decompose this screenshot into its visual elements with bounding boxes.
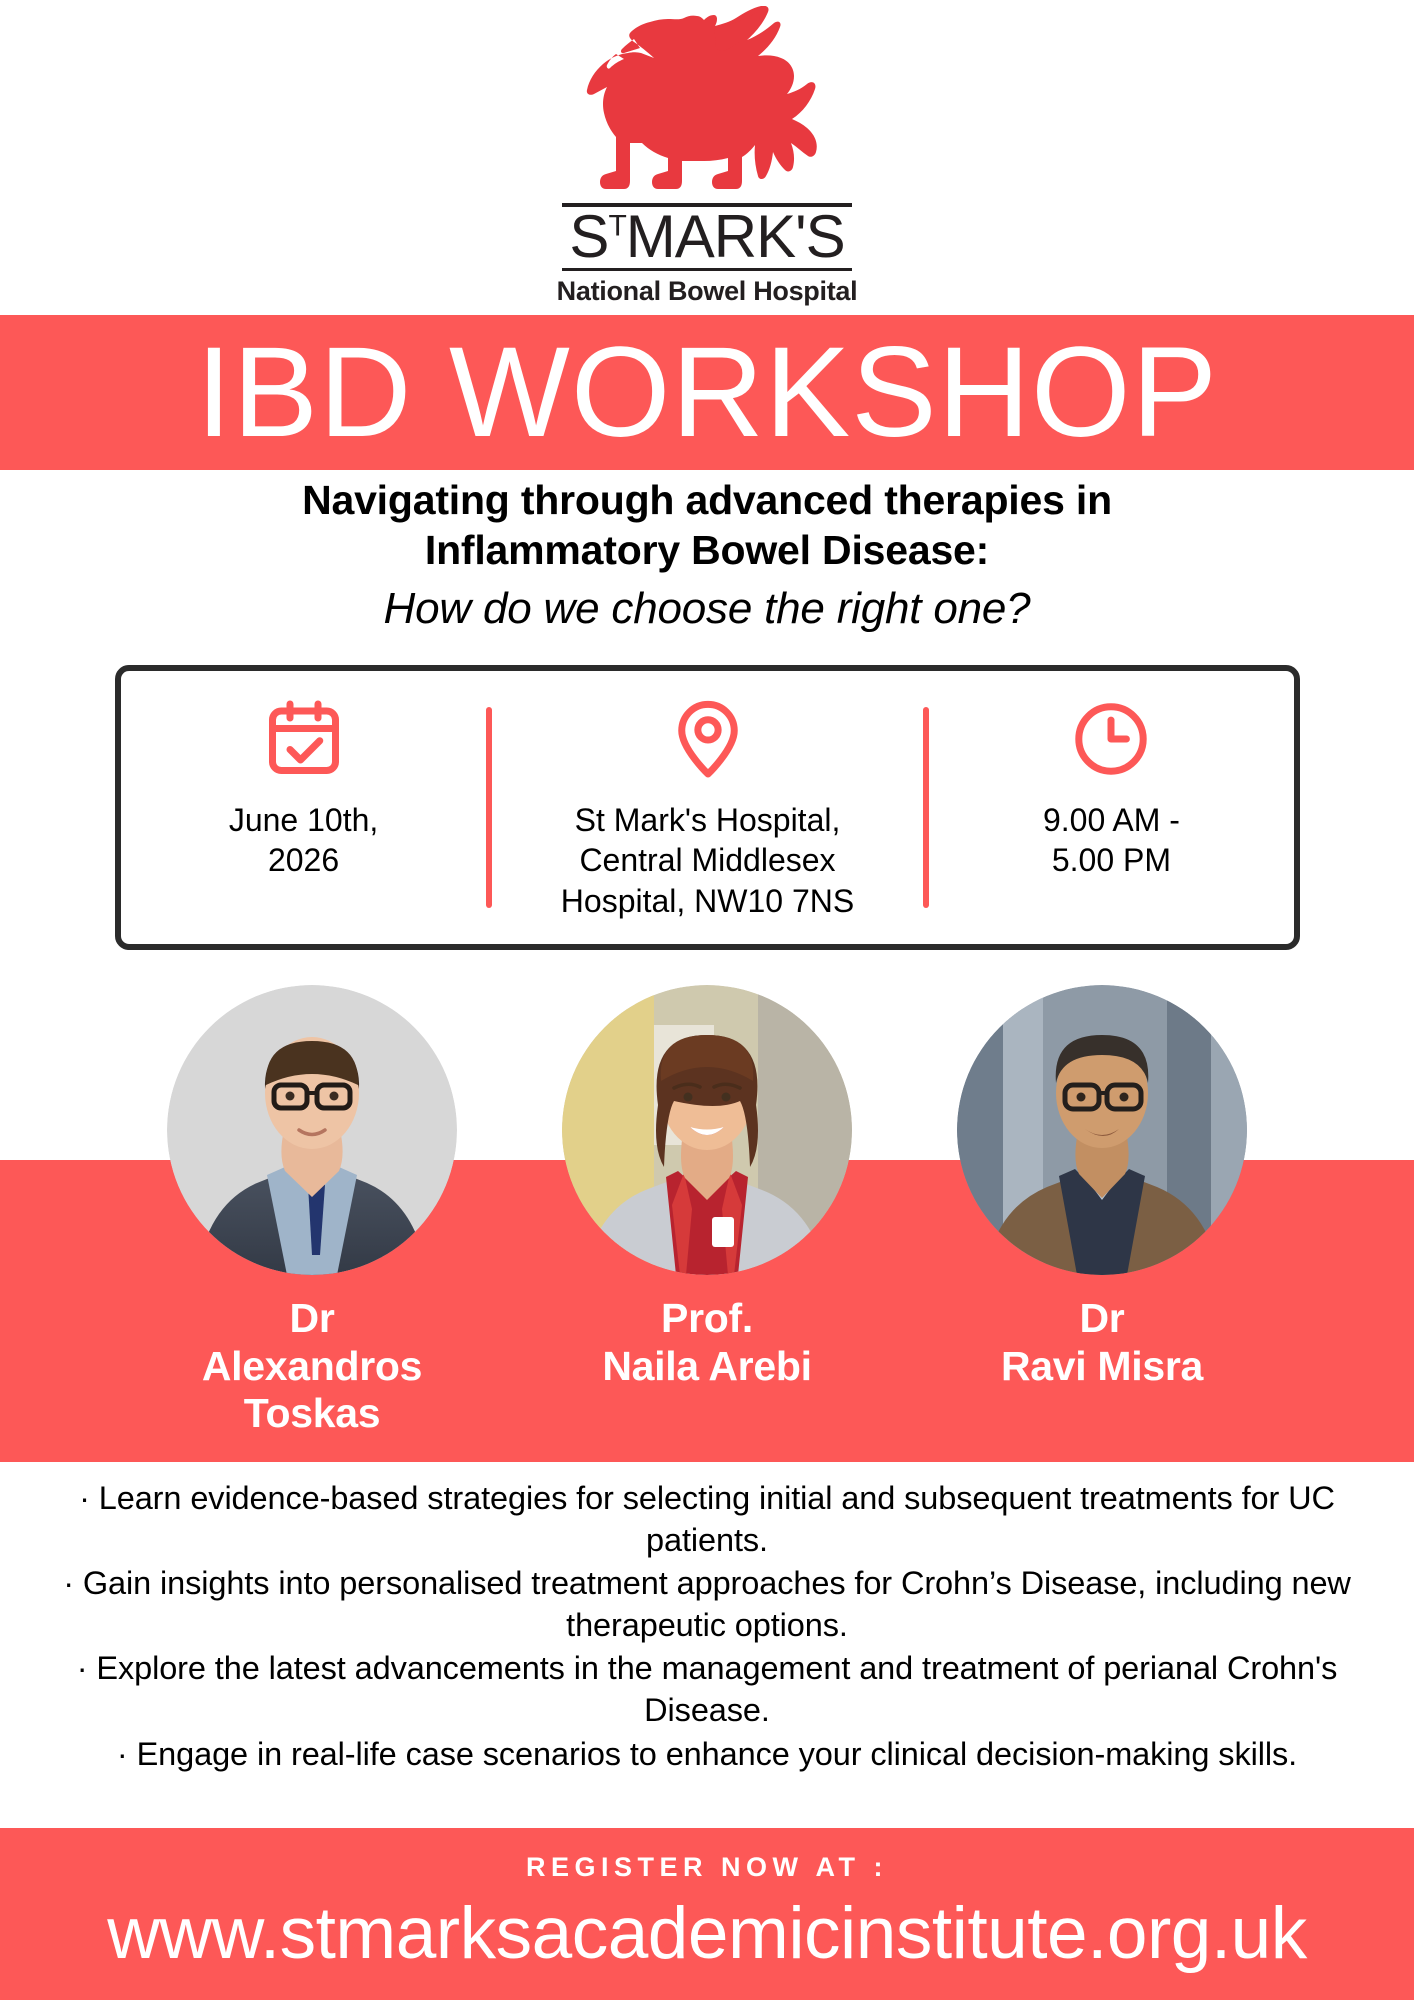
speakers-row: Dr Alexandros Toskas xyxy=(0,985,1414,1438)
logo-wordmark-t: T xyxy=(608,209,625,242)
speaker-card: Dr Ravi Misra xyxy=(927,985,1277,1438)
list-item: · Learn evidence-based strategies for se… xyxy=(22,1478,1392,1561)
event-venue-column: St Mark's Hospital, Central Middlesex Ho… xyxy=(492,671,923,944)
subtitle-question: How do we choose the right one? xyxy=(0,584,1414,634)
register-footer: REGISTER NOW AT : www.stmarksacademicins… xyxy=(0,1828,1414,2000)
clock-icon xyxy=(1069,697,1153,786)
calendar-check-icon xyxy=(262,697,346,786)
list-item: · Explore the latest advancements in the… xyxy=(22,1648,1392,1731)
subtitle-line-2: Inflammatory Bowel Disease: xyxy=(0,525,1414,575)
speaker-name: Dr Ravi Misra xyxy=(1001,1295,1203,1390)
speaker-name: Prof. Naila Arebi xyxy=(602,1295,811,1390)
speaker-card: Dr Alexandros Toskas xyxy=(137,985,487,1438)
speaker-name: Dr Alexandros Toskas xyxy=(137,1295,487,1438)
poster-root: STMARK'S National Bowel Hospital IBD WOR… xyxy=(0,0,1414,2000)
speaker-card: Prof. Naila Arebi xyxy=(532,985,882,1438)
logo-wordmark-marks: MARK'S xyxy=(626,203,845,270)
event-details-box: June 10th, 2026 St Mark's Hospital, Cent… xyxy=(115,665,1300,950)
event-time-column: 9.00 AM - 5.00 PM xyxy=(929,671,1294,944)
map-pin-icon xyxy=(666,697,750,786)
register-kicker: REGISTER NOW AT : xyxy=(526,1852,888,1883)
learning-objectives-list: · Learn evidence-based strategies for se… xyxy=(22,1478,1392,1777)
logo-wordmark-s: S xyxy=(569,203,608,270)
logo-subtitle: National Bowel Hospital xyxy=(557,276,858,307)
subtitle-block: Navigating through advanced therapies in… xyxy=(0,475,1414,634)
list-item: · Engage in real-life case scenarios to … xyxy=(22,1734,1392,1776)
page-title: IBD WORKSHOP xyxy=(196,329,1218,457)
speaker-photo-naila-arebi xyxy=(562,985,852,1275)
event-date-text: June 10th, 2026 xyxy=(229,800,378,881)
speaker-photo-ravi-misra xyxy=(957,985,1247,1275)
logo-rule-bottom xyxy=(562,268,852,271)
event-venue-text: St Mark's Hospital, Central Middlesex Ho… xyxy=(561,800,854,921)
event-time-text: 9.00 AM - 5.00 PM xyxy=(1043,800,1180,881)
event-date-column: June 10th, 2026 xyxy=(121,671,486,944)
subtitle-line-1: Navigating through advanced therapies in xyxy=(0,475,1414,525)
logo-wordmark: STMARK'S xyxy=(569,208,844,267)
hospital-logo: STMARK'S National Bowel Hospital xyxy=(0,0,1414,315)
speaker-photo-alexandros-toskas xyxy=(167,985,457,1275)
winged-lion-icon xyxy=(542,6,872,201)
title-banner: IBD WORKSHOP xyxy=(0,315,1414,470)
list-item: · Gain insights into personalised treatm… xyxy=(22,1563,1392,1646)
register-url-link[interactable]: www.stmarksacademicinstitute.org.uk xyxy=(107,1897,1307,1970)
